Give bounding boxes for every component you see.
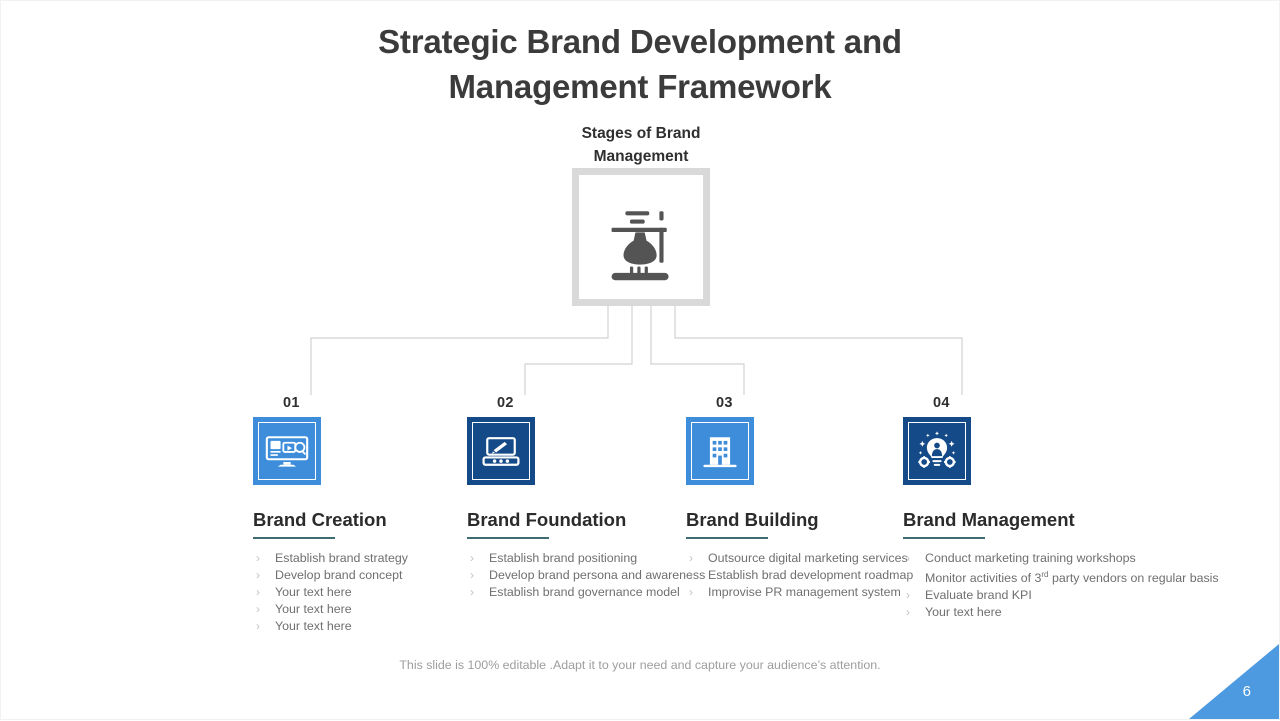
list-item: ›Monitor activities of 3rd party vendors…	[903, 567, 1219, 586]
lab-flask-burner-icon	[595, 191, 687, 283]
list-item: ›Develop brand concept	[253, 567, 408, 583]
monitor-media-content-icon	[265, 429, 309, 473]
chevron-right-icon: ›	[906, 604, 910, 620]
bullet-text: Improvise PR management system	[708, 585, 901, 599]
list-item: ›Establish brad development roadmap	[686, 567, 913, 583]
list-item: ›Develop brand persona and awareness	[467, 567, 705, 583]
list-item: ›Your text here	[253, 601, 408, 617]
heading-rule-04	[903, 537, 985, 539]
list-item: ›Improvise PR management system	[686, 584, 913, 600]
page-number: 6	[1243, 684, 1251, 699]
heading-rule-02	[467, 537, 549, 539]
column-number-03: 03	[716, 395, 913, 411]
chevron-right-icon: ›	[256, 550, 260, 566]
chevron-right-icon: ›	[689, 567, 693, 583]
list-item: ›Your text here	[253, 584, 408, 600]
bullet-text: Your text here	[925, 605, 1002, 619]
office-building-icon	[698, 429, 742, 473]
center-subtitle: Stages of Brand Management	[491, 122, 791, 168]
chevron-right-icon: ›	[256, 601, 260, 617]
center-node	[572, 168, 710, 306]
bullet-list-03: ›Outsource digital marketing services ›E…	[686, 550, 913, 600]
column-heading-04: Brand Management	[903, 509, 1219, 531]
center-subtitle-line-2: Management	[491, 145, 791, 168]
footer-note: This slide is 100% editable .Adapt it to…	[1, 658, 1279, 672]
column-02: 02	[467, 395, 705, 616]
column-number-02: 02	[497, 395, 705, 411]
list-item: ›Establish brand positioning	[467, 550, 705, 566]
bullet-text: Your text here	[275, 602, 352, 616]
chevron-right-icon: ›	[470, 584, 474, 600]
center-subtitle-line-1: Stages of Brand	[491, 122, 791, 145]
bullet-text: Develop brand persona and awareness	[489, 568, 705, 582]
list-item: ›Evaluate brand KPI	[903, 587, 1219, 603]
column-heading-03: Brand Building	[686, 509, 913, 531]
laptop-pen-icon	[479, 429, 523, 473]
list-item: ›Establish brand strategy	[253, 550, 408, 566]
chevron-right-icon: ›	[906, 567, 910, 583]
corner-triangle	[1189, 644, 1279, 719]
tile-inner-04	[908, 422, 966, 480]
column-01: 01	[253, 395, 408, 650]
column-icon-tile-04[interactable]	[903, 417, 971, 485]
heading-rule-03	[686, 537, 768, 539]
bullet-text: Develop brand concept	[275, 568, 402, 582]
column-heading-02: Brand Foundation	[467, 509, 705, 531]
column-heading-01: Brand Creation	[253, 509, 408, 531]
bullet-list-01: ›Establish brand strategy ›Develop brand…	[253, 550, 408, 634]
bullet-text: Establish brand positioning	[489, 551, 637, 565]
column-icon-tile-01[interactable]	[253, 417, 321, 485]
bullet-text: Your text here	[275, 619, 352, 633]
slide-canvas: Strategic Brand Development and Manageme…	[0, 0, 1280, 720]
bullet-text: Outsource digital marketing services	[708, 551, 908, 565]
bullet-text: Conduct marketing training workshops	[925, 551, 1136, 565]
list-item: ›Your text here	[903, 604, 1219, 620]
chevron-right-icon: ›	[256, 567, 260, 583]
bullet-text: Your text here	[275, 585, 352, 599]
tile-inner-03	[691, 422, 749, 480]
tile-inner-02	[472, 422, 530, 480]
heading-rule-01	[253, 537, 335, 539]
column-03: 03	[686, 395, 913, 616]
chevron-right-icon: ›	[906, 587, 910, 603]
chevron-right-icon: ›	[256, 618, 260, 634]
tile-inner-01	[258, 422, 316, 480]
bullet-list-04: ›Conduct marketing training workshops ›M…	[903, 550, 1219, 621]
list-item: ›Your text here	[253, 618, 408, 634]
chevron-right-icon: ›	[689, 550, 693, 566]
chevron-right-icon: ›	[906, 550, 910, 566]
center-node-inner	[579, 175, 703, 299]
chevron-right-icon: ›	[470, 550, 474, 566]
title-line-1: Strategic Brand Development and	[1, 19, 1279, 64]
chevron-right-icon: ›	[689, 584, 693, 600]
page-title: Strategic Brand Development and Manageme…	[1, 19, 1279, 109]
bullet-text: Establish brand strategy	[275, 551, 408, 565]
title-line-2: Management Framework	[1, 64, 1279, 109]
column-number-01: 01	[283, 395, 408, 411]
column-number-04: 04	[933, 395, 1219, 411]
column-04: 04	[903, 395, 1219, 637]
bullet-text: Establish brand governance model	[489, 585, 680, 599]
bullet-text: Establish brad development roadmap	[708, 568, 913, 582]
bullet-list-02: ›Establish brand positioning ›Develop br…	[467, 550, 705, 600]
bullet-text: Evaluate brand KPI	[925, 588, 1032, 602]
list-item: ›Outsource digital marketing services	[686, 550, 913, 566]
list-item: ›Conduct marketing training workshops	[903, 550, 1219, 566]
column-icon-tile-03[interactable]	[686, 417, 754, 485]
lightbulb-person-gears-icon	[915, 429, 959, 473]
list-item: ›Establish brand governance model	[467, 584, 705, 600]
column-icon-tile-02[interactable]	[467, 417, 535, 485]
chevron-right-icon: ›	[470, 567, 474, 583]
bullet-text-superscript: Monitor activities of 3rd party vendors …	[925, 571, 1219, 585]
chevron-right-icon: ›	[256, 584, 260, 600]
corner-page-marker: 6	[1189, 644, 1279, 719]
